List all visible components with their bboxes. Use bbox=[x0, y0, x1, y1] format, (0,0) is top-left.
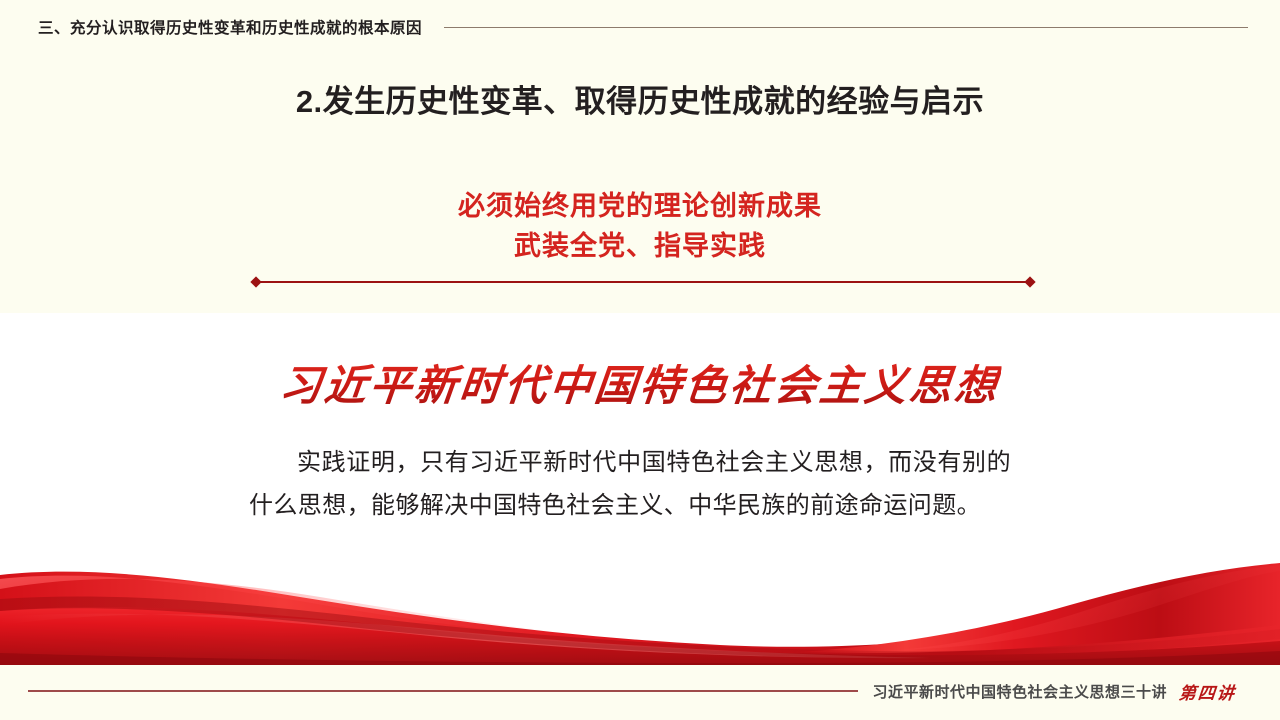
calligraphy-heading-block: 习近平新时代中国特色社会主义思想 bbox=[0, 352, 1280, 413]
body-paragraph: 实践证明，只有习近平新时代中国特色社会主义思想，而没有别的什么思想，能够解决中国… bbox=[249, 441, 1011, 527]
diamond-marker-icon bbox=[250, 276, 261, 287]
slide-footer: 习近平新时代中国特色社会主义思想三十讲 第四讲 bbox=[0, 678, 1280, 704]
subtitle-line-2: 武装全党、指导实践 bbox=[0, 226, 1280, 266]
page-title: 2.发生历史性变革、取得历史性成就的经验与启示 bbox=[0, 76, 1280, 121]
divider-line bbox=[259, 281, 1027, 283]
calligraphy-heading: 习近平新时代中国特色社会主义思想 bbox=[277, 352, 1003, 413]
subtitle-line-1: 必须始终用党的理论创新成果 bbox=[0, 186, 1280, 226]
section-label: 三、充分认识取得历史性变革和历史性成就的根本原因 bbox=[38, 16, 422, 38]
slide: 三、充分认识取得历史性变革和历史性成就的根本原因 2.发生历史性变革、取得历史性… bbox=[0, 0, 1280, 720]
footer-book-title: 习近平新时代中国特色社会主义思想三十讲 bbox=[872, 681, 1167, 702]
subtitle-block: 必须始终用党的理论创新成果 武装全党、指导实践 bbox=[0, 186, 1280, 266]
diamond-marker-icon bbox=[1024, 276, 1035, 287]
decorative-divider bbox=[252, 276, 1034, 288]
footer-divider-line bbox=[28, 690, 858, 692]
header-divider-line bbox=[444, 27, 1248, 28]
slide-header: 三、充分认识取得历史性变革和历史性成就的根本原因 bbox=[0, 12, 1280, 42]
footer-lecture-label: 第四讲 bbox=[1178, 679, 1237, 704]
